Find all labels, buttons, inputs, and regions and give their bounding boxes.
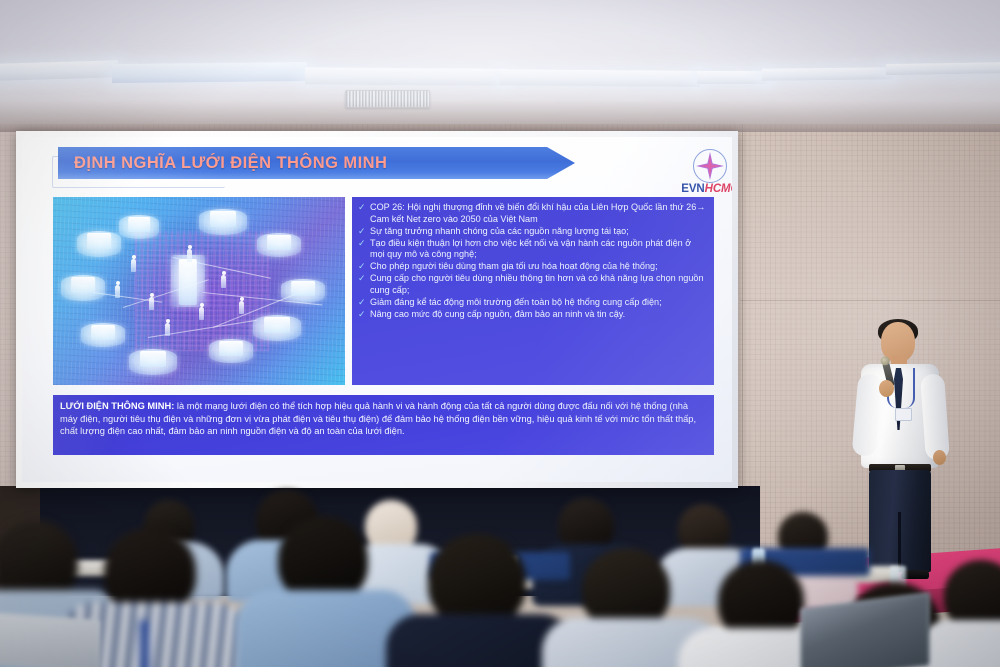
presenter-arm-right [920,373,950,460]
audience-member [250,516,400,667]
logo-evn-text: EVN [681,183,704,195]
check-icon: ✓ [358,297,370,309]
list-item: ✓ COP 26: Hội nghị thượng đỉnh về biến đ… [358,202,708,225]
check-icon: ✓ [358,202,370,214]
list-item: ✓ Sự tăng trưởng nhanh chóng của các ngu… [358,226,708,238]
check-icon: ✓ [358,261,370,273]
audience-member [398,534,558,667]
wall-seam [740,300,1000,301]
audience-member [78,528,228,667]
ceiling-light-panel [762,67,892,81]
check-icon: ✓ [358,273,370,285]
list-item: ✓ Nâng cao mức độ cung cấp nguồn, đảm bả… [358,309,708,321]
laptop-screen [0,612,100,667]
slide-bullet-list: ✓ COP 26: Hội nghị thượng đỉnh về biến đ… [352,197,714,385]
ceiling-light-panel [500,69,700,87]
check-icon: ✓ [358,238,370,250]
ceiling-light-panel [305,67,505,85]
ceiling-light-panel [886,62,1000,75]
presentation-slide: ĐỊNH NGHĨA LƯỚI ĐIỆN THÔNG MINH EVNHCMC [22,137,732,482]
ceiling-light-panel [0,60,118,80]
presenter-hand [933,450,946,465]
definition-term: LƯỚI ĐIỆN THÔNG MINH: [60,401,174,411]
check-icon: ✓ [358,226,370,238]
check-icon: ✓ [358,309,370,321]
list-item: ✓ Tạo điều kiện thuận lợi hơn cho việc k… [358,238,708,261]
photo-scene: ĐỊNH NGHĨA LƯỚI ĐIỆN THÔNG MINH EVNHCMC [0,0,1000,667]
ceiling-wall-shadow [0,100,1000,132]
evn-hcmc-logo: EVNHCMC [672,149,732,195]
slide-title-banner: ĐỊNH NGHĨA LƯỚI ĐIỆN THÔNG MINH [58,147,575,179]
four-point-star-icon [693,149,727,183]
presenter-hand [879,380,894,397]
slide-title: ĐỊNH NGHĨA LƯỚI ĐIỆN THÔNG MINH [58,154,387,173]
list-item: ✓ Cung cấp cho người tiêu dùng nhiều thô… [358,273,708,296]
smart-grid-illustration [53,197,345,385]
list-item: ✓ Giảm đáng kể tác động môi trường đến t… [358,297,708,309]
ceiling-light-panel [697,71,767,84]
ceiling-light-panel [112,62,307,83]
audience-member [930,560,1000,667]
presenter-badge [895,408,912,421]
logo-hcmc-text: HCMC [705,183,732,195]
slide-definition-box: LƯỚI ĐIỆN THÔNG MINH: là một mạng lưới đ… [53,395,714,455]
list-item: ✓ Cho phép người tiêu dùng tham gia tối … [358,261,708,273]
